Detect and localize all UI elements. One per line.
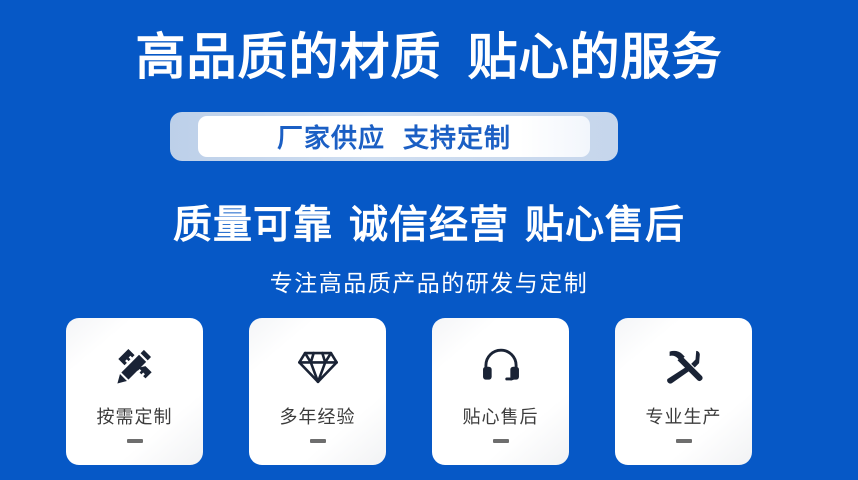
feature-card-list: 按需定制 多年经验 (66, 318, 752, 465)
card-dash (310, 439, 326, 443)
promo-banner: 高品质的材质贴心的服务 厂家供应支持定制 质量可靠诚信经营贴心售后 专注高品质产… (0, 0, 858, 480)
pill-banner-inner: 厂家供应支持定制 (198, 116, 590, 157)
pencil-ruler-icon (109, 340, 161, 392)
headline-sub-part1: 质量可靠 (173, 204, 333, 247)
card-dash (127, 439, 143, 443)
feature-card-production[interactable]: 专业生产 (615, 318, 752, 465)
feature-card-custom[interactable]: 按需定制 (66, 318, 203, 465)
card-dash (676, 439, 692, 443)
feature-card-label: 贴心售后 (463, 403, 539, 429)
feature-card-experience[interactable]: 多年经验 (249, 318, 386, 465)
headline-sub-part2: 诚信经营 (349, 204, 509, 247)
headline-main-part2: 贴心的服务 (468, 29, 723, 85)
feature-card-label: 专业生产 (646, 403, 722, 429)
diamond-icon (292, 340, 344, 392)
hammer-screwdriver-icon (658, 340, 710, 392)
feature-card-label: 按需定制 (97, 403, 173, 429)
subtitle: 专注高品质产品的研发与定制 (0, 268, 858, 298)
headline-main-part1: 高品质的材质 (136, 29, 442, 85)
headline-sub: 质量可靠诚信经营贴心售后 (0, 201, 858, 251)
pill-text-part2: 支持定制 (403, 123, 511, 153)
pill-banner: 厂家供应支持定制 (170, 112, 618, 161)
headline-sub-part3: 贴心售后 (525, 204, 685, 247)
card-dash (493, 439, 509, 443)
headset-icon (475, 340, 527, 392)
pill-text-part1: 厂家供应 (277, 123, 385, 153)
headline-main: 高品质的材质贴心的服务 (0, 26, 858, 88)
feature-card-support[interactable]: 贴心售后 (432, 318, 569, 465)
pill-banner-text: 厂家供应支持定制 (277, 118, 511, 155)
feature-card-label: 多年经验 (280, 403, 356, 429)
